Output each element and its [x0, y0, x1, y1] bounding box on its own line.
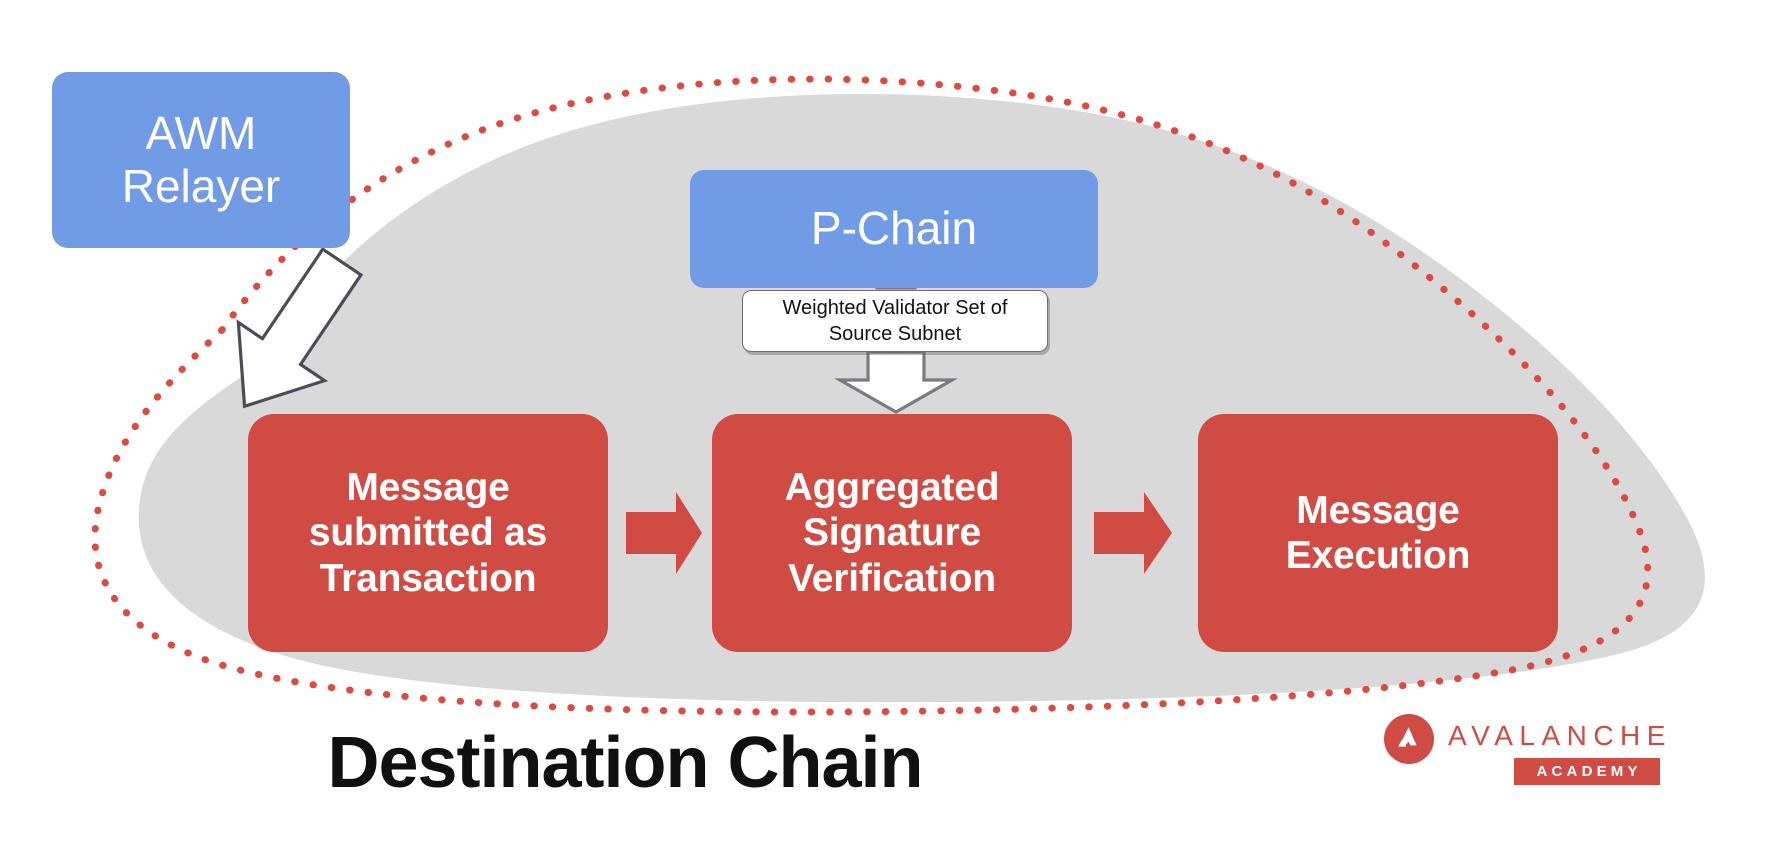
node-awm-relayer[interactable]: AWM Relayer	[52, 72, 350, 248]
step-2-line-3: Verification	[785, 556, 1000, 601]
step-3-line-1: Message	[1286, 488, 1471, 533]
validator-set-line-1: Weighted Validator Set of	[783, 295, 1008, 321]
step-1-line-1: Message	[309, 465, 547, 510]
step-2-line-1: Aggregated	[785, 465, 1000, 510]
node-awm-relayer-line-2: Relayer	[122, 160, 281, 213]
step-message-execution[interactable]: Message Execution	[1198, 414, 1558, 652]
step-1-line-2: submitted as	[309, 510, 547, 555]
validator-set-to-step-2-arrow	[840, 352, 952, 412]
step-message-submitted-as-transaction[interactable]: Message submitted as Transaction	[248, 414, 608, 652]
node-p-chain[interactable]: P-Chain	[690, 170, 1098, 288]
step-1-line-3: Transaction	[309, 556, 547, 601]
step-2-to-step-3-arrow	[1094, 492, 1172, 574]
node-p-chain-label: P-Chain	[811, 202, 977, 255]
node-weighted-validator-set[interactable]: Weighted Validator Set of Source Subnet	[742, 290, 1048, 352]
avalanche-academy-logo: AVALANCHE ACADEMY	[1384, 712, 1664, 790]
logo-academy-badge: ACADEMY	[1514, 758, 1660, 785]
node-awm-relayer-line-1: AWM	[122, 107, 281, 160]
validator-set-line-2: Source Subnet	[783, 321, 1008, 347]
diagram-canvas: AWM Relayer P-Chain Weighted Validator S…	[0, 0, 1792, 848]
step-1-to-step-2-arrow	[626, 492, 702, 574]
step-2-line-2: Signature	[785, 510, 1000, 555]
avalanche-triangle-icon	[1384, 714, 1434, 764]
step-aggregated-signature-verification[interactable]: Aggregated Signature Verification	[712, 414, 1072, 652]
logo-wordmark: AVALANCHE	[1448, 720, 1672, 752]
relayer-to-step-1-arrow	[201, 233, 385, 435]
page-title: Destination Chain	[0, 722, 1250, 804]
step-3-line-2: Execution	[1286, 533, 1471, 578]
